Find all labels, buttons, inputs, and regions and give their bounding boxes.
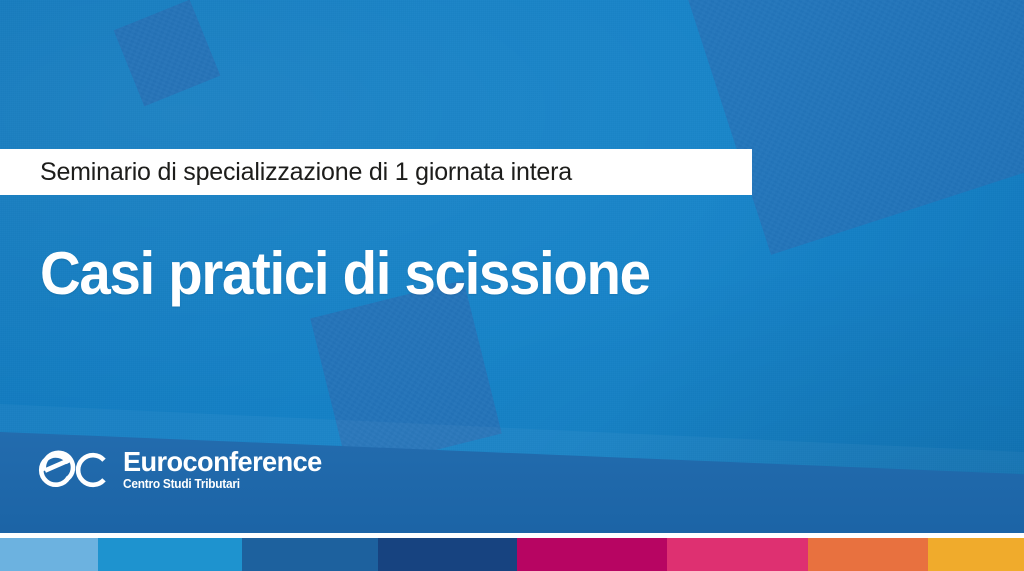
color-strip-segment-magenta: [517, 538, 667, 571]
color-strip-segment-pink: [667, 538, 808, 571]
logo-tagline: Centro Studi Tributari: [123, 477, 318, 492]
brand-color-strip: [0, 538, 1024, 571]
euroconference-logo: Euroconference Centro Studi Tributari: [38, 447, 328, 493]
color-strip-segment-medium-blue: [242, 538, 378, 571]
color-strip-segment-orange: [808, 538, 928, 571]
color-strip-segment-yellow: [928, 538, 1024, 571]
seminar-promo-banner: Seminario di specializzazione di 1 giorn…: [0, 0, 1024, 571]
color-strip-segment-light-blue: [0, 538, 98, 571]
logo-brand-name: Euroconference: [123, 448, 322, 477]
subtitle-banner: Seminario di specializzazione di 1 giorn…: [0, 149, 752, 195]
color-strip-segment-cyan-blue: [98, 538, 242, 571]
color-strip-segment-navy-blue: [378, 538, 517, 571]
ec-monogram-icon: [38, 447, 112, 493]
page-title: Casi pratici di scissione: [40, 244, 650, 304]
seminar-subtitle: Seminario di specializzazione di 1 giorn…: [40, 158, 572, 187]
logo-wordmark: Euroconference Centro Studi Tributari: [123, 448, 328, 493]
